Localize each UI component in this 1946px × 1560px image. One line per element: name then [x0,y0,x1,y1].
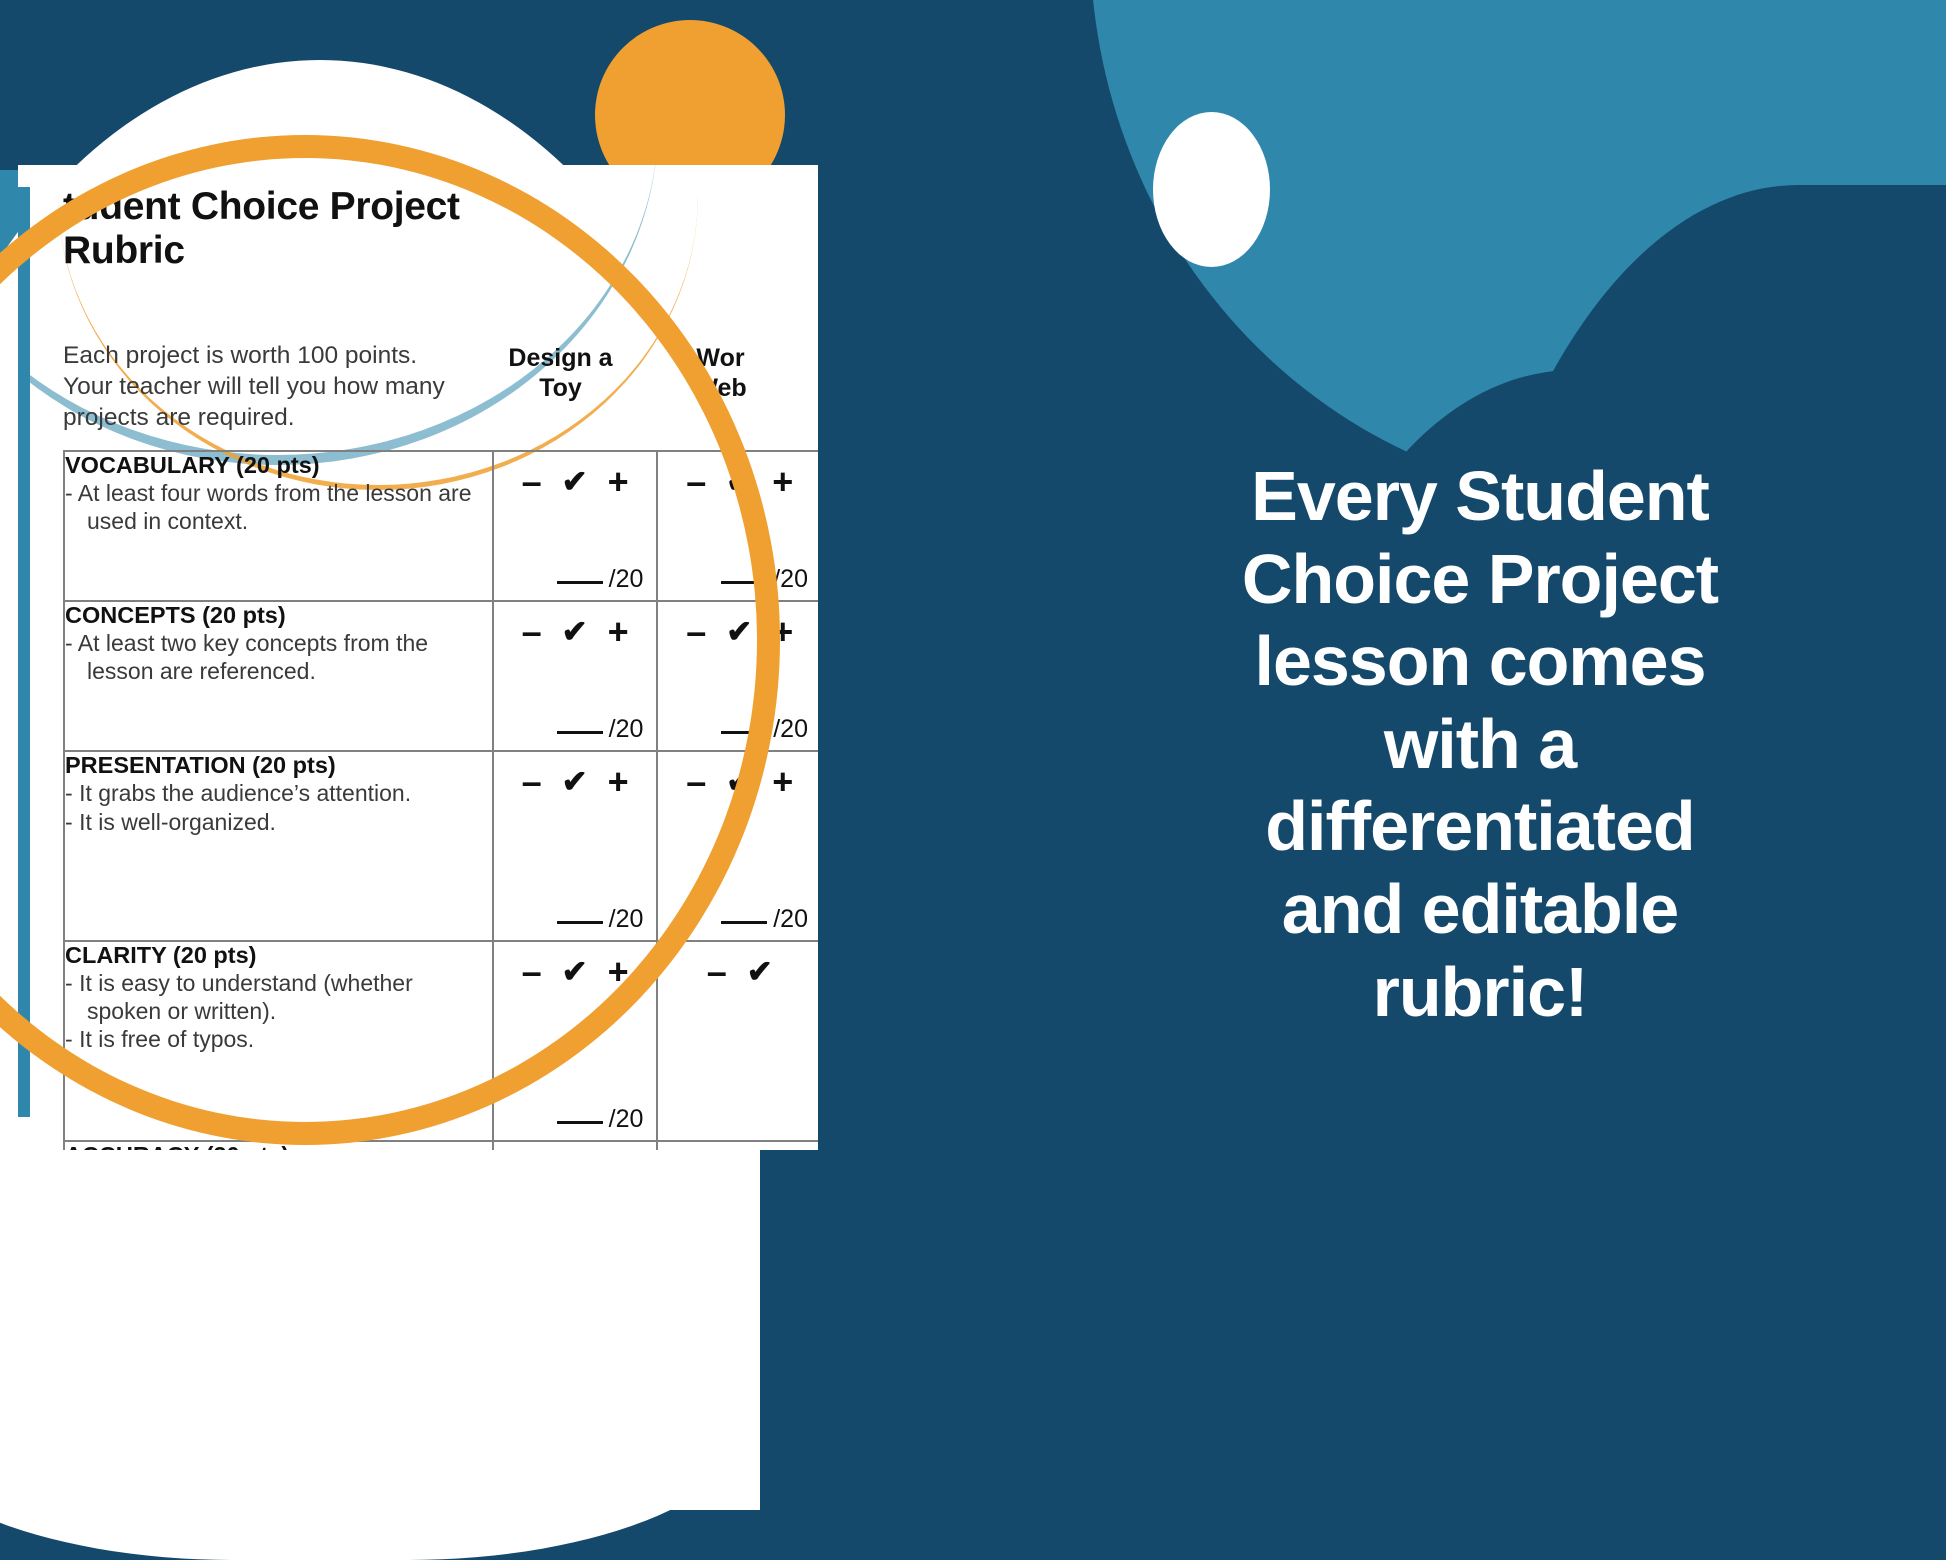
criterion-cell: PRESENTATION (20 pts) It grabs the audie… [64,751,493,941]
column-header-line2: Web [648,373,793,403]
check-mark-icon[interactable]: ✔ [726,764,752,800]
criterion-title: VOCABULARY (20 pts) [65,452,492,479]
promo-headline: Every Student Choice Project lesson come… [1150,455,1810,1033]
score-cell-word-web[interactable]: – ✔ + /20 [657,451,818,601]
score-cell-design-a-toy[interactable]: – ✔ + /20 [493,941,658,1141]
minus-mark-icon[interactable]: – [686,769,706,794]
rubric-document: tudent Choice Project Rubric Each projec… [18,165,818,1150]
mark-group: – ✔ + [494,602,657,650]
score-write-in-blank[interactable] [557,921,603,924]
criterion-title: CLARITY (20 pts) [65,942,492,969]
rubric-table-body: VOCABULARY (20 pts) At least four words … [64,451,818,1150]
white-ellipse-accent [1153,112,1270,267]
column-header-word-web: Wor Web [648,343,793,403]
score-cell-design-a-toy[interactable]: – ✔ + /20 [493,451,658,601]
list-item: At least two key concepts from the lesso… [65,630,492,685]
plus-mark-icon[interactable]: + [608,958,629,987]
headline-line: Choice Project [1150,538,1810,621]
criterion-title: ACCURACY (20 pts) [65,1142,492,1150]
criterion-cell: ACCURACY (20 pts) Drawings/models are ac… [64,1141,493,1150]
mark-group: – ✔ + [658,452,818,500]
check-mark-icon[interactable]: ✔ [562,764,588,800]
score-write-in-blank[interactable] [557,581,603,584]
headline-line: rubric! [1150,951,1810,1034]
score-cell-design-a-toy[interactable]: – ✔ + /20 [493,601,658,751]
criterion-bullets: It grabs the audience’s attention. It is… [65,780,492,836]
table-row: VOCABULARY (20 pts) At least four words … [64,451,818,601]
check-mark-icon[interactable]: ✔ [562,954,588,990]
minus-mark-icon[interactable]: – [522,769,542,794]
minus-mark-icon[interactable]: – [522,619,542,644]
score-blank-line[interactable]: /20 [721,905,808,934]
minus-mark-icon[interactable]: – [522,959,542,984]
mark-group: – ✔ + [658,752,818,800]
score-write-in-blank[interactable] [721,581,767,584]
score-blank-line[interactable]: /20 [557,905,644,934]
score-cell-design-a-toy[interactable]: – ✔ + /20 [493,751,658,941]
score-denominator: /20 [609,565,644,593]
minus-mark-icon[interactable]: – [522,469,542,494]
table-row: PRESENTATION (20 pts) It grabs the audie… [64,751,818,941]
criterion-bullets: At least four words from the lesson are … [65,480,492,535]
check-mark-icon[interactable]: ✔ [562,614,588,650]
score-cell-word-web[interactable]: – ✔ [657,941,818,1141]
list-item: It is free of typos. [65,1026,492,1054]
column-header-line2: Toy [488,373,633,403]
check-mark-icon[interactable]: ✔ [726,614,752,650]
score-denominator: /20 [609,905,644,933]
list-item: It is well-organized. [65,809,492,837]
plus-mark-icon[interactable]: + [608,468,629,497]
minus-mark-icon[interactable]: – [686,469,706,494]
score-cell-design-a-toy[interactable]: – ✔ [493,1141,658,1150]
score-cell-word-web[interactable]: – ✔ + /20 [657,601,818,751]
criterion-cell: CLARITY (20 pts) It is easy to understan… [64,941,493,1141]
headline-line: and editable [1150,868,1810,951]
criterion-cell: VOCABULARY (20 pts) At least four words … [64,451,493,601]
score-write-in-blank[interactable] [721,731,767,734]
headline-line: differentiated [1150,785,1810,868]
score-cell-word-web[interactable] [657,1141,818,1150]
check-mark-icon[interactable]: ✔ [747,954,773,990]
document-title-line1: tudent Choice Project [63,185,623,229]
score-blank-line[interactable]: /20 [557,1105,644,1134]
score-write-in-blank[interactable] [721,921,767,924]
mark-group: – ✔ + [494,752,657,800]
criterion-bullets: At least two key concepts from the lesso… [65,630,492,685]
document-title: tudent Choice Project Rubric [63,185,623,272]
score-blank-line[interactable]: /20 [721,715,808,744]
document-intro-text: Each project is worth 100 points. Your t… [63,340,463,433]
list-item: It grabs the audience’s attention. [65,780,492,808]
plus-mark-icon[interactable]: + [772,768,793,797]
plus-mark-icon[interactable]: + [608,618,629,647]
document-title-line2: Rubric [63,229,623,273]
table-row: CONCEPTS (20 pts) At least two key conce… [64,601,818,751]
criterion-title: CONCEPTS (20 pts) [65,602,492,629]
score-denominator: /20 [609,1105,644,1133]
score-denominator: /20 [609,715,644,743]
score-write-in-blank[interactable] [557,731,603,734]
check-mark-icon[interactable]: ✔ [562,464,588,500]
plus-mark-icon[interactable]: + [608,768,629,797]
table-row: CLARITY (20 pts) It is easy to understan… [64,941,818,1141]
mark-group: – ✔ [658,942,818,990]
table-row: ACCURACY (20 pts) Drawings/models are ac… [64,1141,818,1150]
criterion-cell: CONCEPTS (20 pts) At least two key conce… [64,601,493,751]
score-cell-word-web[interactable]: – ✔ + /20 [657,751,818,941]
mark-group: – ✔ + [658,602,818,650]
minus-mark-icon[interactable]: – [686,619,706,644]
headline-line: lesson comes [1150,620,1810,703]
score-denominator: /20 [773,905,808,933]
headline-line: Every Student [1150,455,1810,538]
score-write-in-blank[interactable] [557,1121,603,1124]
plus-mark-icon[interactable]: + [772,618,793,647]
rubric-table: VOCABULARY (20 pts) At least four words … [63,450,818,1150]
score-blank-line[interactable]: /20 [557,715,644,744]
mark-group: – ✔ + [494,942,657,990]
check-mark-icon[interactable]: ✔ [726,464,752,500]
score-blank-line[interactable]: /20 [721,565,808,594]
criterion-title: PRESENTATION (20 pts) [65,752,492,779]
headline-line: with a [1150,703,1810,786]
list-item: It is easy to understand (whether spoken… [65,970,492,1025]
score-denominator: /20 [773,715,808,743]
list-item: At least four words from the lesson are … [65,480,492,535]
column-header-design-a-toy: Design a Toy [488,343,633,403]
column-header-line1: Wor [648,343,793,373]
mark-group: – ✔ [494,1142,657,1150]
score-blank-line[interactable]: /20 [557,565,644,594]
column-header-line1: Design a [488,343,633,373]
criterion-bullets: It is easy to understand (whether spoken… [65,970,492,1054]
minus-mark-icon[interactable]: – [707,959,727,984]
plus-mark-icon[interactable]: + [772,468,793,497]
mark-group: – ✔ + [494,452,657,500]
score-denominator: /20 [773,565,808,593]
